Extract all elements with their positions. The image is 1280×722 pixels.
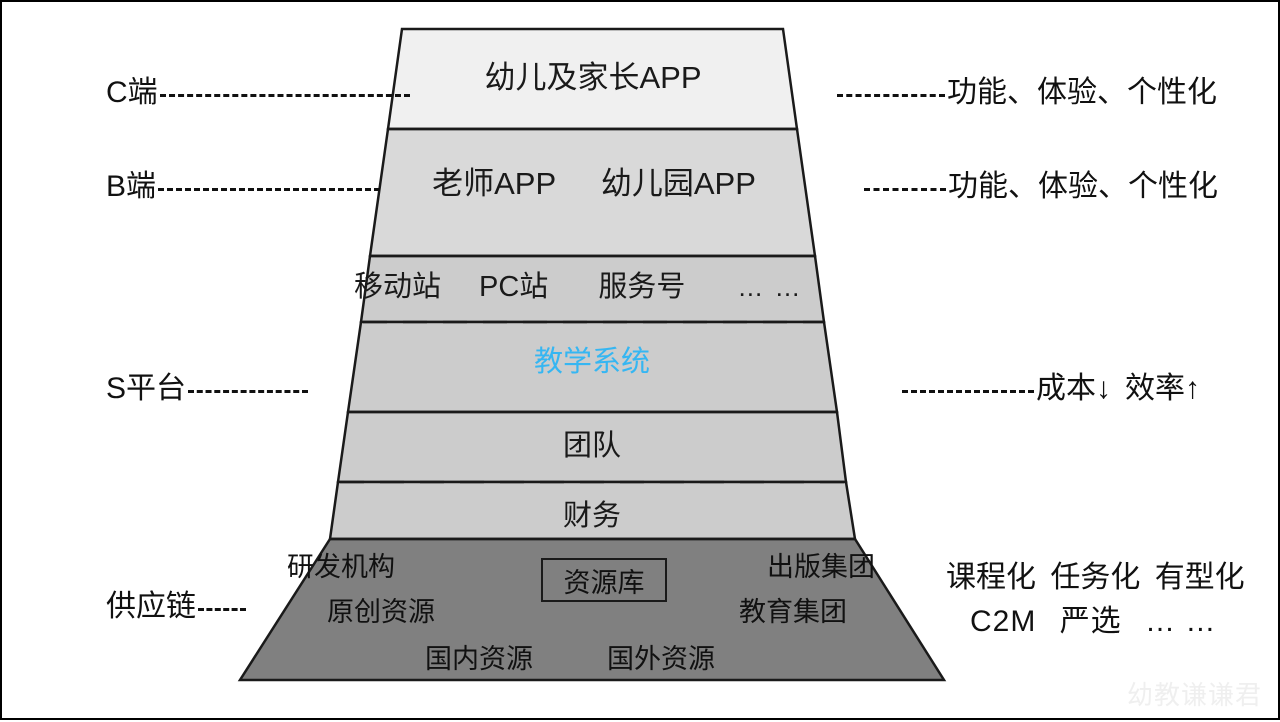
right-label-c-value: 功能、体验、个性化 (835, 78, 1217, 108)
supply-keywords-row2: C2M 严选 … … (946, 600, 1245, 644)
diagram-canvas: 幼儿及家长APP 老师APP 幼儿园APP 移动站 PC站 服务号 … … 教学… (0, 0, 1280, 720)
right-label-b-value: 功能、体验、个性化 (862, 172, 1218, 202)
left-label-b-side-text: B端 (106, 172, 156, 202)
left-label-s-platform-text: S平台 (106, 374, 186, 404)
supply-publishing-group: 出版集团 (767, 554, 875, 581)
dashed-connector-s (188, 390, 308, 393)
supply-domestic-resources: 国内资源 (425, 646, 533, 673)
supply-foreign-resources: 国外资源 (607, 646, 715, 673)
keyword-tangible: 有型化 (1155, 561, 1245, 594)
left-label-c-side: C端 (106, 78, 410, 108)
b-app-kindergarten: 幼儿园APP (601, 166, 756, 201)
keyword-ellipsis: … … (1145, 605, 1216, 638)
supply-keywords-row1: 课程化 任务化 有型化 (946, 561, 1245, 594)
supply-education-group: 教育集团 (739, 599, 847, 626)
keyword-coursified: 课程化 (946, 561, 1036, 594)
right-label-s-value: 成本↓ 效率↑ (900, 374, 1200, 404)
dashed-connector-right-s (902, 390, 1034, 393)
b-app-teacher: 老师APP (432, 166, 555, 201)
supply-resource-library-box: 资源库 (541, 558, 667, 602)
keyword-strict-selection: 严选 (1060, 605, 1122, 638)
right-label-efficiency-up: 效率↑ (1125, 374, 1200, 404)
keyword-taskified: 任务化 (1050, 561, 1140, 594)
dashed-connector-right-c (837, 94, 945, 97)
dashed-connector-b (158, 188, 380, 191)
layer-teaching-system-label: 教学系统 (322, 348, 862, 377)
right-label-c-value-text: 功能、体验、个性化 (947, 78, 1217, 108)
channel-service-account: 服务号 (598, 273, 685, 302)
channel-mobile-site: 移动站 (354, 273, 441, 302)
right-label-b-value-text: 功能、体验、个性化 (948, 172, 1218, 202)
left-label-c-side-text: C端 (106, 78, 158, 108)
left-label-supply-chain-text: 供应链 (106, 592, 196, 622)
layer-team-label: 团队 (312, 432, 872, 461)
supply-original-resources: 原创资源 (327, 599, 435, 626)
watermark: 幼教谦谦君 (1127, 675, 1262, 712)
channel-ellipsis: … … (737, 274, 802, 300)
channel-pc-site: PC站 (479, 273, 548, 302)
layer-finance-label: 财务 (302, 502, 882, 531)
right-label-cost-down: 成本↓ (1036, 374, 1111, 404)
supply-rd-org: 研发机构 (287, 554, 395, 581)
dashed-connector-right-b (864, 188, 946, 191)
keyword-c2m: C2M (970, 605, 1036, 638)
dashed-connector-supply (198, 608, 246, 611)
layer-c-apps-label: 幼儿及家长APP (402, 62, 784, 93)
layer-channels-labels: 移动站 PC站 服务号 … … (338, 273, 846, 302)
dashed-connector-c (160, 94, 410, 97)
layer-b-apps-labels: 老师APP 幼儿园APP (384, 168, 804, 199)
right-label-supply-keywords: 课程化 任务化 有型化 C2M 严选 … … (946, 556, 1245, 643)
left-label-s-platform: S平台 (106, 374, 308, 404)
left-label-b-side: B端 (106, 172, 380, 202)
left-label-supply-chain: 供应链 (106, 592, 246, 622)
